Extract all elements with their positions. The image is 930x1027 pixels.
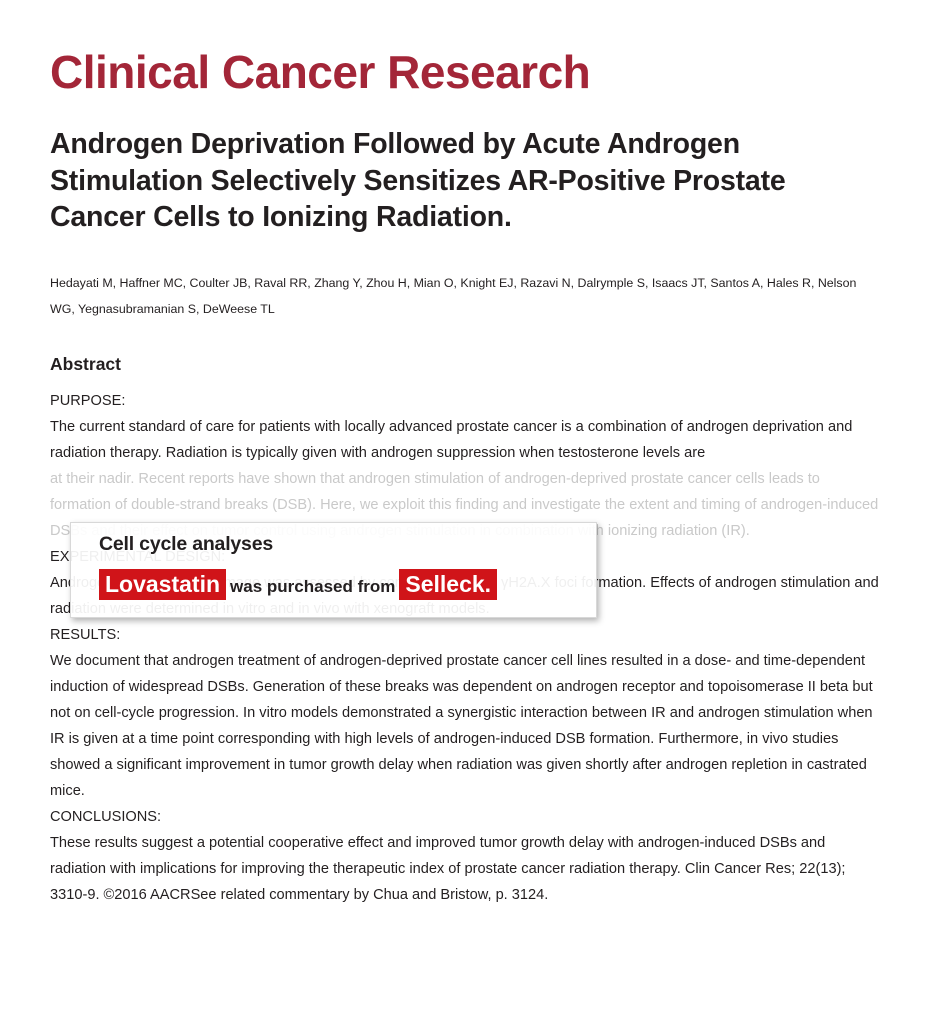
article-page: Clinical Cancer Research Androgen Depriv…: [0, 0, 930, 1027]
abstract-section-text-purpose-visible: The current standard of care for patient…: [50, 415, 880, 467]
abstract-section-text-conclusions: These results suggest a potential cooper…: [50, 831, 880, 909]
promo-overlay-line: Lovastatinwas purchased fromSelleck.: [99, 571, 596, 599]
page-title: Androgen Deprivation Followed by Acute A…: [50, 126, 850, 235]
abstract-section-text-results: We document that androgen treatment of a…: [50, 649, 880, 805]
promo-middle-text: was purchased from: [226, 577, 399, 596]
author-list: Hedayati M, Haffner MC, Coulter JB, Rava…: [50, 270, 880, 322]
abstract-heading: Abstract: [50, 354, 880, 375]
promo-highlight-vendor[interactable]: Selleck.: [399, 569, 497, 600]
abstract-body: PURPOSE: The current standard of care fo…: [50, 389, 880, 908]
promo-overlay-title: Cell cycle analyses: [99, 533, 596, 556]
abstract-section-label-purpose: PURPOSE:: [50, 389, 880, 415]
journal-masthead: Clinical Cancer Research: [50, 0, 880, 96]
promo-overlay-card[interactable]: Cell cycle analyses Lovastatinwas purcha…: [70, 522, 597, 618]
abstract-section-label-results: RESULTS:: [50, 623, 880, 649]
abstract-section-label-conclusions: CONCLUSIONS:: [50, 805, 880, 831]
promo-highlight-compound[interactable]: Lovastatin: [99, 569, 226, 600]
